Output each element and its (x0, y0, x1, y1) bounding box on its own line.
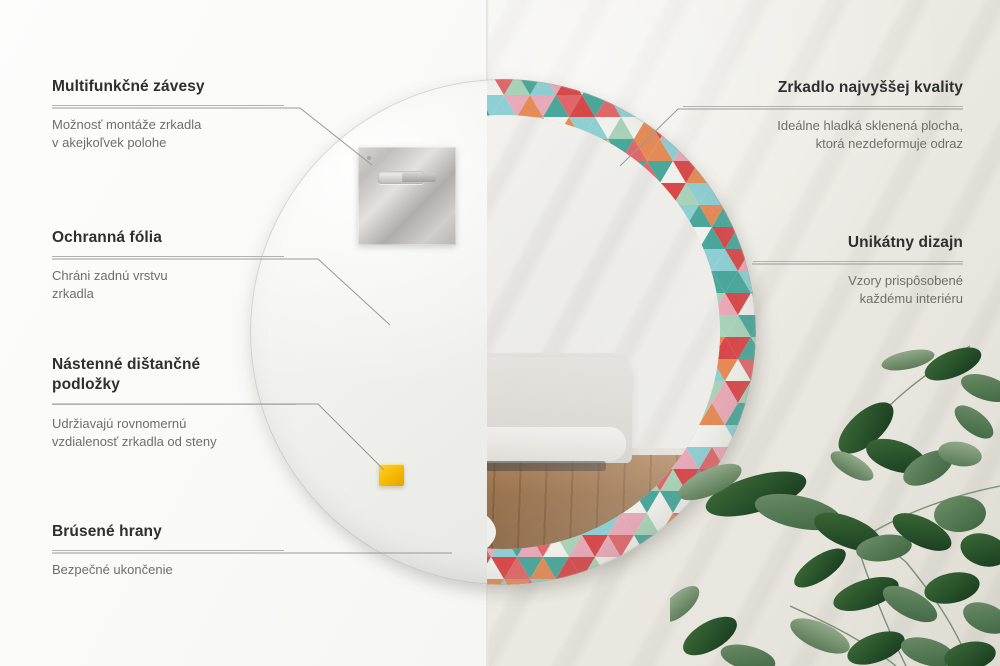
hanger-screw-icon (367, 156, 371, 160)
callout-title: Zrkadlo najvyššej kvality (683, 79, 963, 97)
hanger-plate (358, 147, 456, 245)
leaves-group (670, 341, 1000, 666)
callout-rule (52, 256, 284, 257)
yellow-spacer (379, 464, 404, 486)
infographic-canvas: Multifunkčné závesy Možnosť montáže zrka… (0, 0, 1000, 666)
callout-ochranna-folia[interactable]: Ochranná fólia Chráni zadnú vrstvu zrkad… (52, 229, 284, 303)
hanger-slot-shadow (402, 173, 436, 182)
callout-description: Bezpečné ukončenie (52, 561, 284, 579)
callout-rule (52, 105, 284, 106)
triangle-tile (751, 161, 756, 183)
callout-description: Možnosť montáže zrkadla v akejkoľvek pol… (52, 116, 284, 152)
callout-rule (683, 106, 963, 107)
callout-title: Nástenné dištančné podložky (52, 355, 296, 395)
callout-nastenne-distancne-podlozky[interactable]: Nástenné dištančné podložky Udržiavajú r… (52, 355, 296, 451)
callout-rule (52, 550, 284, 551)
callout-description: Vzory prispôsobené každému interiéru (753, 272, 963, 308)
callout-title: Ochranná fólia (52, 229, 284, 247)
callout-title: Unikátny dizajn (753, 234, 963, 252)
leaf-branches (670, 336, 1000, 666)
callout-title: Brúsené hrany (52, 523, 284, 541)
callout-title: Multifunkčné závesy (52, 78, 284, 96)
triangle-tile (751, 205, 756, 227)
callout-description: Udržiavajú rovnomernú vzdialenosť zrkadl… (52, 415, 296, 451)
callout-rule (52, 404, 296, 405)
callout-zrkadlo-najvyssej-kvality[interactable]: Zrkadlo najvyššej kvality Ideálne hladká… (683, 79, 963, 153)
triangle-tile (751, 183, 756, 205)
callout-rule (753, 261, 963, 262)
callout-unikatny-dizajn[interactable]: Unikátny dizajn Vzory prispôsobené každé… (753, 234, 963, 308)
callout-description: Chráni zadnú vrstvu zrkadla (52, 267, 284, 303)
callout-description: Ideálne hladká sklenená plocha, ktorá ne… (683, 117, 963, 153)
callout-brusene-hrany[interactable]: Brúsené hrany Bezpečné ukončenie (52, 523, 284, 579)
callout-multifunkcne-zavesy[interactable]: Multifunkčné závesy Možnosť montáže zrka… (52, 78, 284, 152)
